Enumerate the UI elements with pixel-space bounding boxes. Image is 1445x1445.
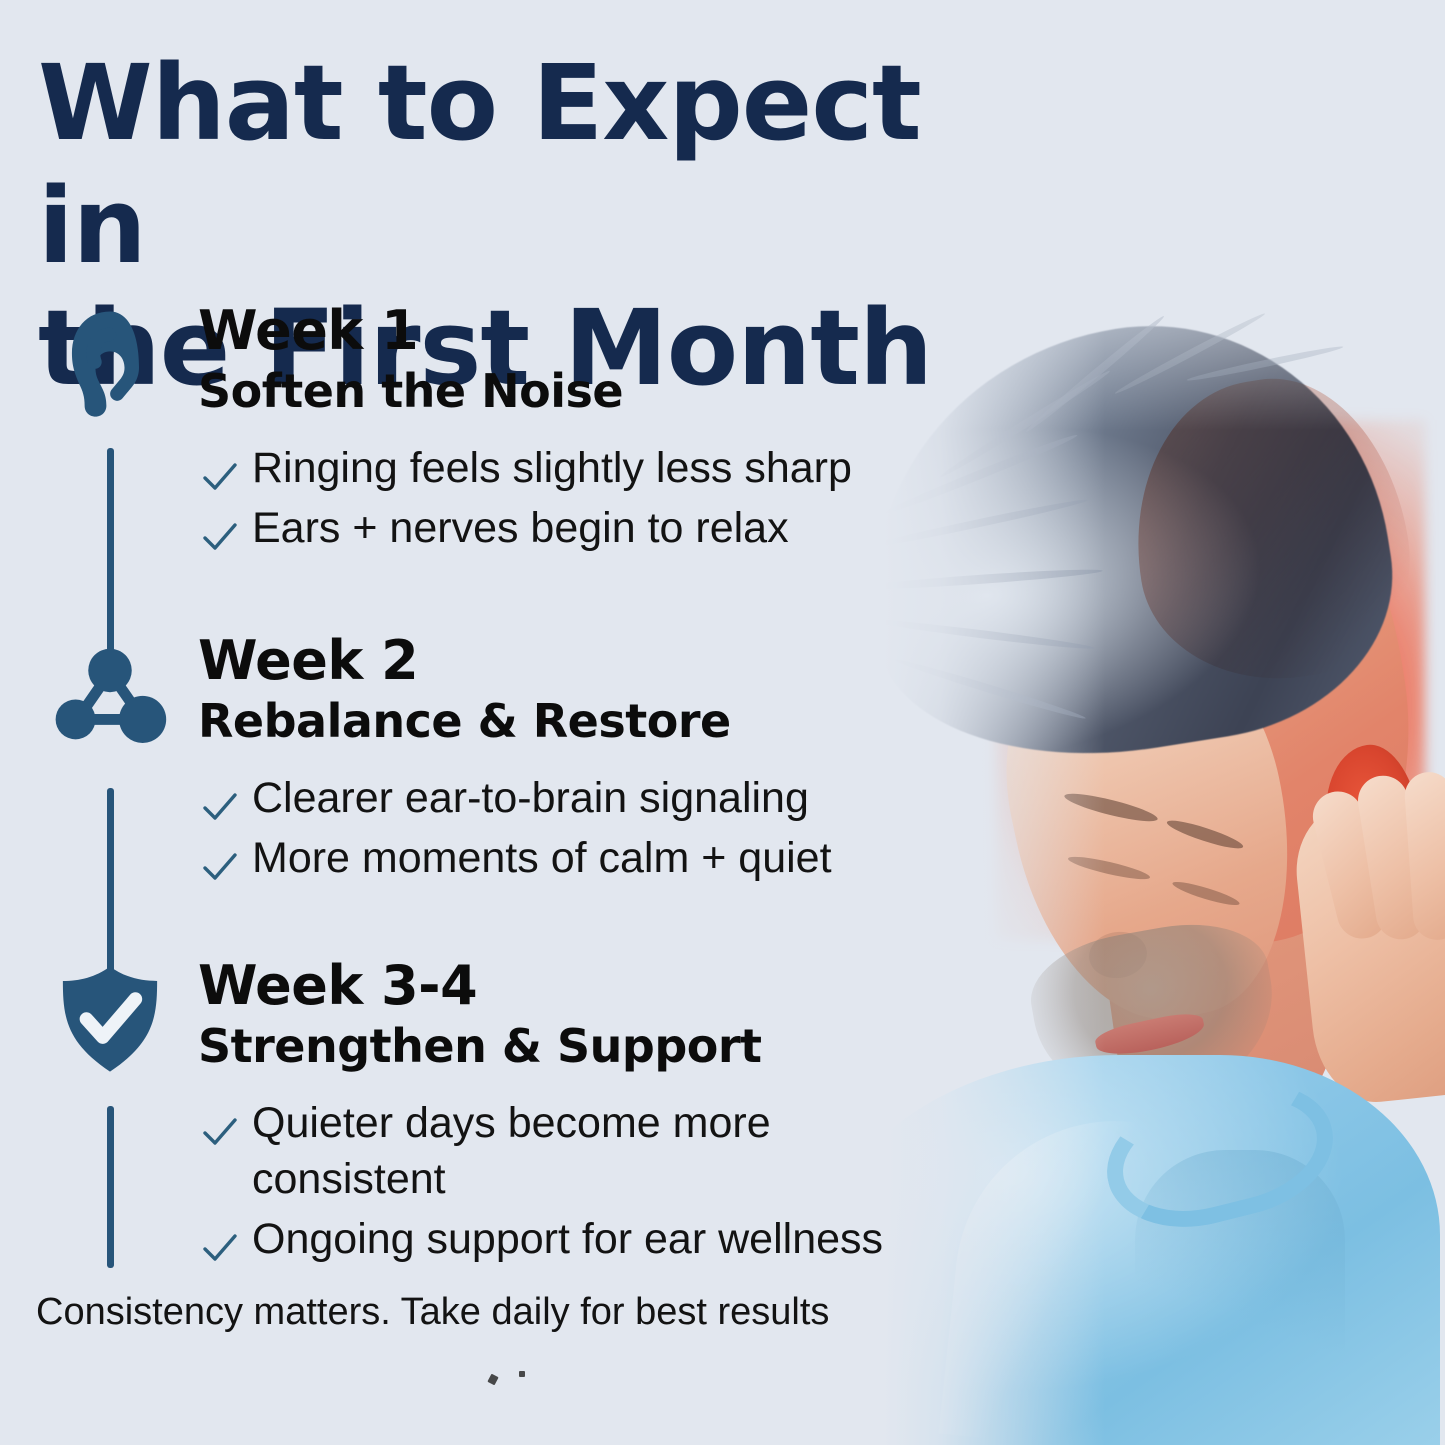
list-item-label: More moments of calm + quiet [252, 834, 832, 882]
list-item: Ears + nerves begin to relax [198, 501, 988, 557]
check-icon [202, 1223, 238, 1255]
list-item-label: Clearer ear-to-brain signaling [252, 774, 809, 822]
check-icon [202, 842, 238, 874]
step-3-week-label: Week 3-4 [198, 955, 988, 1017]
list-item: More moments of calm + quiet [198, 831, 988, 887]
step-3-text: Week 3-4 Strengthen & Support Quieter da… [198, 955, 988, 1283]
photo-hair-warm-tint [1113, 361, 1427, 700]
list-item: Ringing feels slightly less sharp [198, 441, 988, 497]
footer-note: Consistency matters. Take daily for best… [36, 1290, 829, 1336]
photo-hand [1290, 792, 1445, 1108]
timeline-connector-2 [107, 788, 114, 974]
check-icon [202, 452, 238, 484]
step-3-title: Strengthen & Support [198, 1019, 988, 1074]
step-2-bullets: Clearer ear-to-brain signaling More mome… [198, 771, 988, 887]
list-item: Clearer ear-to-brain signaling [198, 771, 988, 827]
molecule-icon [52, 636, 168, 752]
photo-brow-left [1063, 789, 1160, 827]
text-artifact-mark-1 [487, 1374, 498, 1386]
check-icon [202, 1107, 238, 1139]
photo-tshirt-shadow [1135, 1150, 1345, 1445]
check-icon [202, 512, 238, 544]
photo-tshirt-collar [1093, 1064, 1348, 1246]
photo-eye-right [1171, 878, 1241, 909]
check-icon [202, 782, 238, 814]
content-column: What to Expect in the First Month Week 1… [0, 0, 1000, 1445]
photo-neck [1085, 796, 1340, 1123]
photo-eye-left [1067, 853, 1152, 884]
list-item-label: Ears + nerves begin to relax [252, 504, 789, 552]
photo-face [976, 596, 1323, 1043]
step-1-text: Week 1 Soften the Noise Ringing feels sl… [198, 300, 988, 573]
photo-nose [1086, 928, 1150, 982]
text-artifact-mark-2 [519, 1371, 525, 1377]
list-item-label: Ongoing support for ear wellness [252, 1215, 883, 1263]
ear-icon [52, 306, 168, 422]
step-2-week-label: Week 2 [198, 630, 988, 692]
step-1-week-label: Week 1 [198, 300, 988, 362]
list-item-label: Quieter days become more consistent [252, 1099, 771, 1203]
pain-glow [995, 420, 1425, 940]
step-1-title: Soften the Noise [198, 364, 988, 419]
photo-head [954, 360, 1445, 981]
list-item: Quieter days become more consistent [198, 1096, 872, 1208]
step-2-title: Rebalance & Restore [198, 694, 988, 749]
shield-check-icon [52, 961, 168, 1077]
step-3-bullets: Quieter days become more consistent Ongo… [198, 1096, 988, 1268]
step-1-bullets: Ringing feels slightly less sharp Ears +… [198, 441, 988, 557]
infographic-poster: What to Expect in the First Month Week 1… [0, 0, 1445, 1445]
photo-ear [1317, 739, 1426, 876]
photo-mouth [1093, 1009, 1207, 1061]
timeline-connector-3 [107, 1106, 114, 1268]
timeline-connector-1 [107, 448, 114, 656]
list-item-label: Ringing feels slightly less sharp [252, 444, 852, 492]
list-item: Ongoing support for ear wellness [198, 1212, 988, 1268]
photo-beard [1022, 910, 1288, 1119]
photo-brow-right [1165, 816, 1245, 853]
step-2-text: Week 2 Rebalance & Restore Clearer ear-t… [198, 630, 988, 903]
